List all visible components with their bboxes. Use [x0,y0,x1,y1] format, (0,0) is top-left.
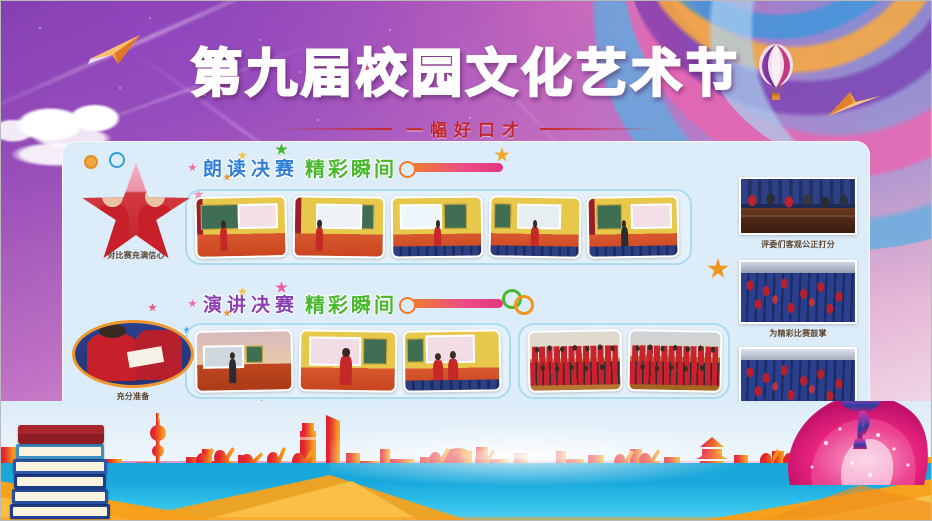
photo-reading-4[interactable] [488,195,581,259]
photo-group-2[interactable] [627,329,722,393]
photo-reading-5[interactable] [586,195,679,259]
subtitle-row: 一幅好口才 [0,116,932,141]
photo-speech-2[interactable] [299,329,398,392]
photo-reading-3[interactable] [391,196,484,259]
section-accent-bar-speech [403,299,503,308]
photo-reading-1[interactable] [194,195,287,259]
book-2 [16,444,104,459]
section-header-speech: 演讲决赛 精彩瞬间 [188,289,503,318]
left-photo-ellipse[interactable] [72,320,194,388]
photo-strip-speech [185,323,511,399]
book-4 [14,474,106,489]
section-header-reading: 朗读决赛 精彩瞬间 [188,153,503,182]
right-photo-card-2[interactable] [739,260,857,324]
photo-strip-group [518,323,730,399]
background-ribbon-4 [642,0,932,120]
decor-star-red-small [148,303,157,312]
section-title-secondary-speech: 精彩瞬间 [305,289,397,318]
page-subtitle: 一幅好口才 [406,116,526,141]
paper-plane-icon-left [88,33,144,67]
decor-star-orange-2 [707,258,729,280]
photo-strip-reading [185,189,692,265]
book-1 [18,425,104,444]
photo-reading-2[interactable] [293,195,386,258]
section-title-primary-speech: 演讲决赛 [203,290,299,317]
star-photo-shape [80,163,192,263]
bullet-star-icon-2 [188,299,197,308]
paper-plane-icon-right [824,88,882,120]
caption-left-1: 对比赛充满信心 [80,250,192,261]
section-accent-bar-reading [403,163,503,172]
title-block: 第九届校园文化艺术节 一幅好口才 [0,32,932,141]
subtitle-rule-right [540,128,658,130]
photo-speech-3[interactable] [403,329,502,392]
ballet-dancer-silhouette [826,401,896,457]
hot-air-balloon-icon [757,44,795,106]
background-ribbon-5 [654,0,904,100]
book-3 [13,459,107,474]
cloud-left [0,86,165,148]
stack-of-books [8,411,118,521]
light-streak-2 [20,37,331,152]
subtitle-rule-left [274,128,392,130]
bottom-scene [0,401,932,521]
decor-ring-orange [514,295,534,315]
poster-canvas: 第九届校园文化艺术节 一幅好口才 朗读决赛 精彩瞬间 [0,0,932,521]
background-ribbon-3 [622,0,932,140]
right-photo-card-1[interactable] [739,177,857,235]
book-6 [10,504,110,519]
left-photo-star[interactable] [80,163,192,263]
caption-right-2: 为精彩比赛鼓掌 [739,328,857,339]
light-streak-1 [0,0,345,124]
book-5 [12,489,108,504]
caption-right-1: 评委们客观公正打分 [739,239,857,250]
section-title-secondary-reading: 精彩瞬间 [305,153,397,182]
page-title: 第九届校园文化艺术节 [191,32,741,106]
section-title-primary-reading: 朗读决赛 [203,154,299,181]
photo-speech-1[interactable] [194,329,293,393]
photo-group-1[interactable] [527,329,622,393]
